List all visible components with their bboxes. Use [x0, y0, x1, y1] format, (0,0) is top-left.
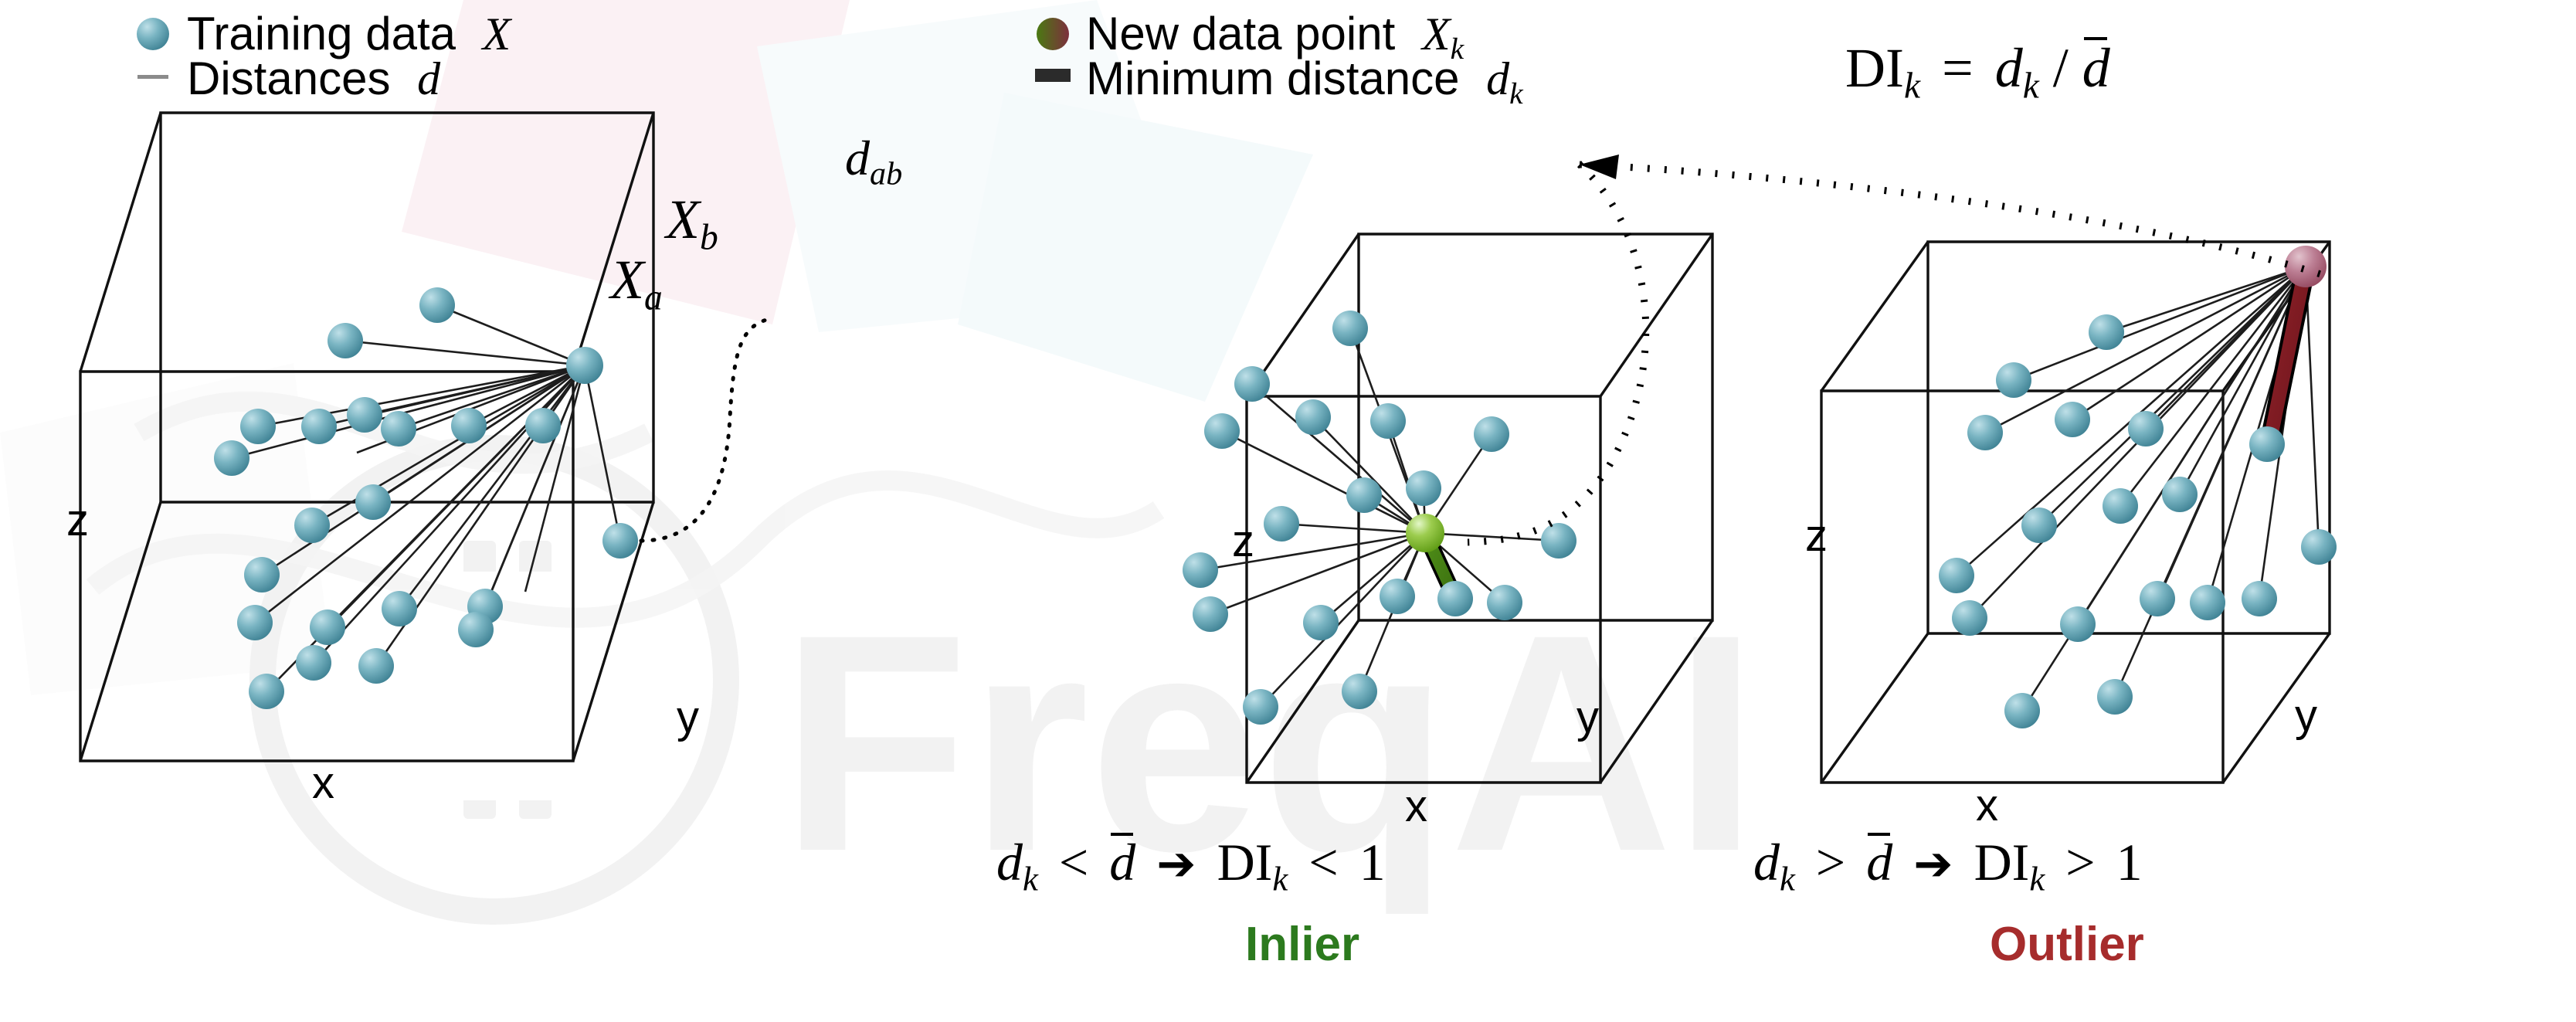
di-lhs-sub: k: [1904, 66, 1920, 106]
inlier-rel2: <: [1301, 833, 1346, 891]
xb-sub: b: [700, 217, 718, 257]
xa-sub: a: [644, 277, 663, 317]
legend-item-training-data: Training data X: [187, 11, 511, 57]
verdict-inlier: Inlier: [1245, 921, 1359, 969]
outlier-dk-sub: k: [1780, 859, 1795, 898]
inlier-rel1: <: [1051, 833, 1096, 891]
outlier-dk: d: [1753, 833, 1780, 891]
legend-label-newpoint: New data point: [1086, 8, 1395, 59]
outlier-rel1: >: [1808, 833, 1853, 891]
axis-label-x-panel3: x: [1976, 783, 1998, 828]
dab-sub: ab: [870, 156, 902, 192]
inlier-caption-formula: dk < d ➔ DIk < 1: [996, 836, 1386, 896]
axis-label-x-panel2: x: [1405, 784, 1427, 829]
di-slash: /: [2053, 37, 2069, 99]
axis-label-z-panel1: z: [66, 498, 89, 543]
outlier-arrow-icon: ➔: [1906, 838, 1960, 891]
legend-item-minimum-distance: Minimum distance dk: [1086, 56, 1523, 109]
axis-label-x-panel1: x: [312, 761, 334, 806]
di-numerator-sub: k: [2023, 66, 2039, 106]
di-equals: =: [1934, 37, 1981, 99]
di-numerator: d: [1995, 37, 2023, 99]
axis-label-y-panel3: y: [2295, 694, 2317, 738]
legend-label-mindistance: Minimum distance: [1086, 53, 1460, 104]
figure-canvas: FreqAI: [0, 0, 2576, 1022]
axis-label-y-panel1: y: [677, 695, 699, 740]
di-formula: DIk = dk / d: [1845, 40, 2110, 105]
outlier-value: 1: [2116, 833, 2143, 891]
outlier-dbar: d: [1866, 833, 1892, 891]
verdict-outlier: Outlier: [1990, 921, 2144, 969]
axis-label-y-panel2: y: [1576, 695, 1599, 740]
legend-symbol-dk-sub: k: [1509, 76, 1523, 110]
inlier-arrow-icon: ➔: [1149, 838, 1203, 891]
inlier-di-sub: k: [1272, 859, 1288, 898]
outlier-rel2: >: [2058, 833, 2103, 891]
outlier-di: DI: [1974, 833, 2030, 891]
di-lhs: DI: [1845, 37, 1904, 99]
dab-label: dab: [845, 133, 902, 191]
outlier-caption-formula: dk > d ➔ DIk > 1: [1753, 836, 2143, 896]
inlier-dbar: d: [1109, 833, 1135, 891]
text-layer: Training data X Distances d New data poi…: [0, 0, 2576, 1022]
legend-label-distances: Distances: [187, 53, 390, 104]
xb-symbol: X: [666, 188, 700, 250]
inlier-value: 1: [1359, 833, 1386, 891]
inlier-di: DI: [1217, 833, 1273, 891]
xa-symbol: X: [610, 249, 644, 311]
axis-label-z-panel3: z: [1805, 514, 1828, 559]
legend-item-distances: Distances d: [187, 56, 440, 102]
xa-label: Xa: [610, 252, 663, 317]
inlier-dk-sub: k: [1023, 859, 1038, 898]
legend-label-training: Training data: [187, 8, 456, 59]
legend-symbol-X: X: [483, 8, 511, 59]
axis-label-z-panel2: z: [1232, 519, 1254, 564]
inlier-dk: d: [996, 833, 1023, 891]
legend-symbol-dk: d: [1486, 53, 1509, 104]
legend-symbol-d: d: [417, 53, 440, 104]
xb-label: Xb: [666, 192, 718, 256]
outlier-di-sub: k: [2029, 859, 2045, 898]
dab-symbol: d: [845, 131, 870, 185]
di-denominator: d: [2082, 37, 2110, 99]
